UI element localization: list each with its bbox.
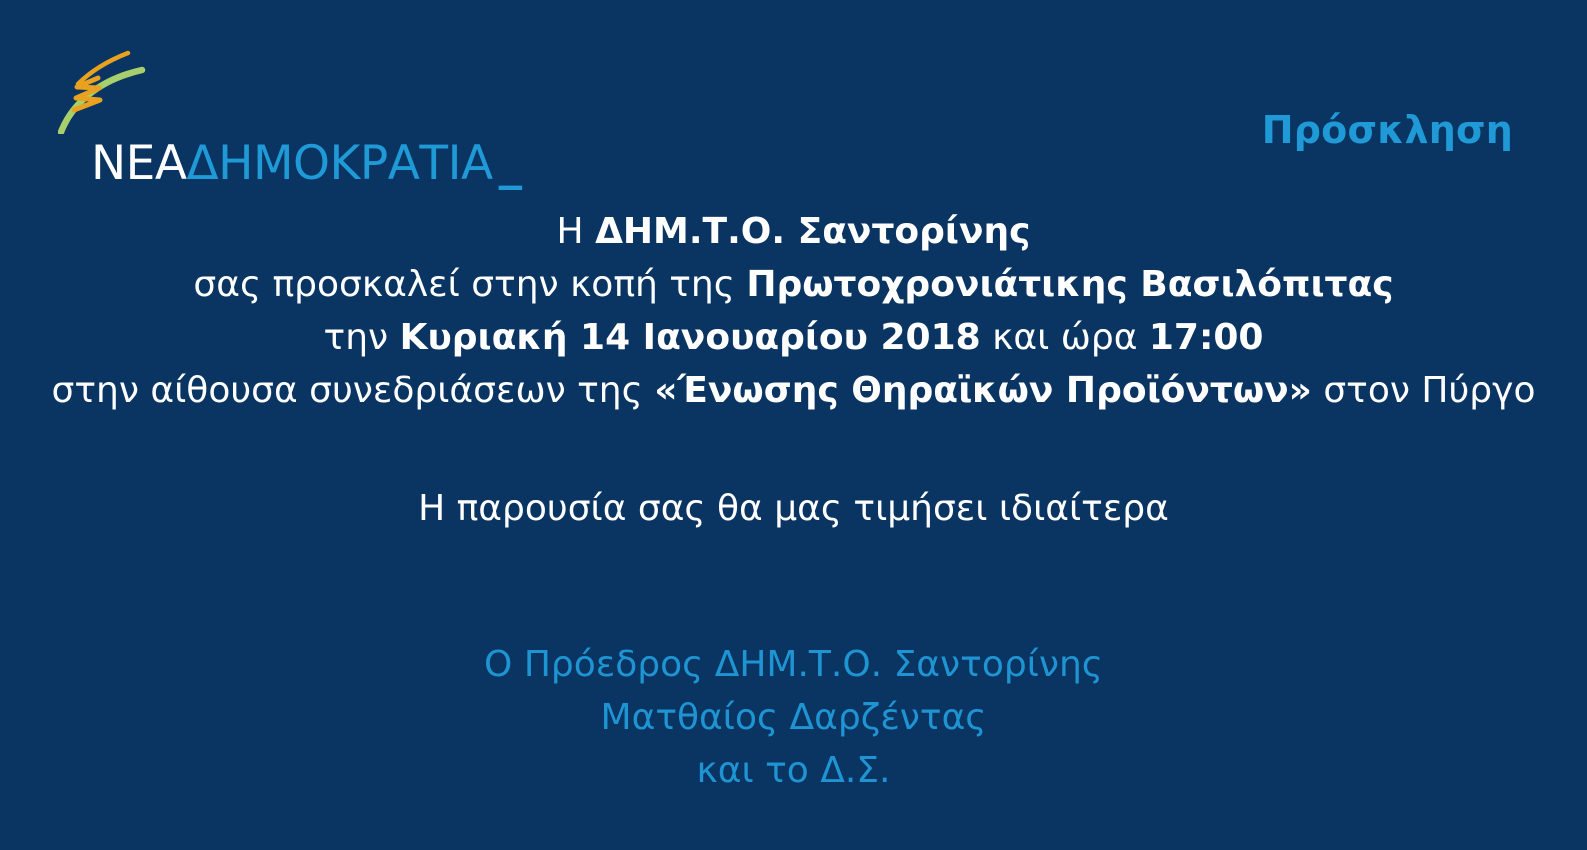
logo-wordmark-dimokratia: ΔΗΜΟΚΡΑΤΙΑ (187, 136, 493, 191)
body-line-2-lead: σας προσκαλεί στην κοπή της (193, 264, 746, 305)
signature-block: Ο Πρόεδρος ΔΗΜ.Τ.Ο. Σαντορίνης Ματθαίος … (0, 638, 1587, 797)
body-line-4-venue: «Ένωσης Θηραϊκών Προϊόντων» (654, 370, 1312, 411)
body-line-4-tail: στον Πύργο (1312, 370, 1536, 411)
honor-statement: Η παρουσία σας θα μας τιμήσει ιδιαίτερα (0, 482, 1587, 535)
body-line-1-lead: Η (557, 211, 596, 252)
body-line-3-lead: την (324, 317, 400, 358)
body-line-3-date: Κυριακή 14 Ιανουαρίου 2018 (400, 317, 981, 358)
body-line-1-organization: ΔΗΜ.Τ.Ο. Σαντορίνης (595, 211, 1030, 252)
body-line-2: σας προσκαλεί στην κοπή της Πρωτοχρονιάτ… (0, 258, 1587, 311)
body-line-3-mid: και ώρα (981, 317, 1149, 358)
body-line-4: στην αίθουσα συνεδριάσεων της «Ένωσης Θη… (0, 364, 1587, 417)
party-logo: ΝΕΑΔΗΜΟΚΡΑΤΙΑ_ (58, 48, 478, 168)
logo-wordmark: ΝΕΑΔΗΜΟΚΡΑΤΙΑ_ (91, 140, 522, 187)
document-type-label: Πρόσκληση (1262, 108, 1513, 152)
body-line-4-lead: στην αίθουσα συνεδριάσεων της (52, 370, 655, 411)
invitation-poster: ΝΕΑΔΗΜΟΚΡΑΤΙΑ_ Πρόσκληση Η ΔΗΜ.Τ.Ο. Σαντ… (0, 0, 1587, 850)
nea-dimokratia-emblem-icon (58, 48, 150, 134)
signature-role: Ο Πρόεδρος ΔΗΜ.Τ.Ο. Σαντορίνης (0, 638, 1587, 691)
signature-name: Ματθαίος Δαρζέντας (0, 691, 1587, 744)
body-line-3-time: 17:00 (1149, 317, 1264, 358)
logo-wordmark-underscore: _ (499, 136, 522, 191)
signature-board: και το Δ.Σ. (0, 744, 1587, 797)
body-line-1: Η ΔΗΜ.Τ.Ο. Σαντορίνης (0, 205, 1587, 258)
body-line-2-event: Πρωτοχρονιάτικης Βασιλόπιτας (746, 264, 1393, 305)
body-line-3: την Κυριακή 14 Ιανουαρίου 2018 και ώρα 1… (0, 311, 1587, 364)
logo-wordmark-nea: ΝΕΑ (91, 136, 187, 191)
invitation-body: Η ΔΗΜ.Τ.Ο. Σαντορίνης σας προσκαλεί στην… (0, 205, 1587, 417)
